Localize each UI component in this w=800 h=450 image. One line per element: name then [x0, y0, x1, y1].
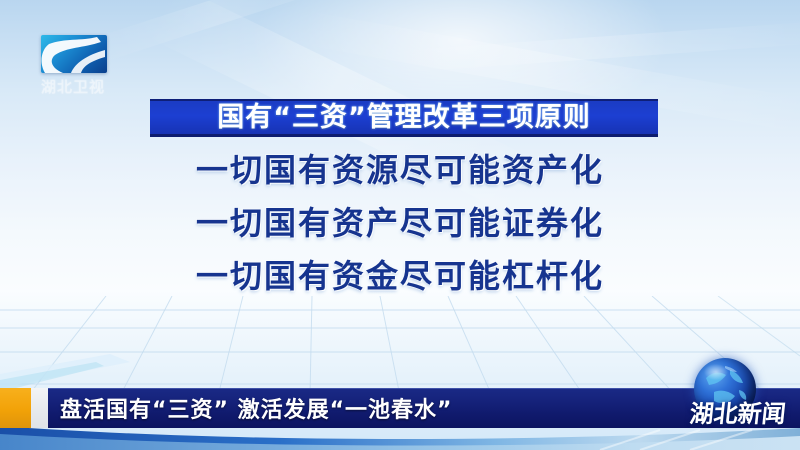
lower-third-accent-bar — [0, 388, 31, 428]
principle-line: 一切国有资产尽可能证券化 — [0, 207, 800, 239]
channel-wordmark: 湖北卫视 — [41, 76, 119, 97]
principle-line: 一切国有资源尽可能资产化 — [0, 154, 800, 186]
program-bug-label: 湖北新闻 — [674, 394, 800, 429]
lower-third-headline: 盘活国有“三资” 激活发展“一池春水” — [60, 388, 453, 428]
principle-line: 一切国有资金尽可能杠杆化 — [0, 260, 800, 292]
title-banner: 国有“三资”管理改革三项原则 — [150, 99, 658, 137]
broadcast-screen: 湖北卫视 国有“三资”管理改革三项原则 一切国有资源尽可能资产化 一切国有资产尽… — [0, 0, 800, 450]
program-bug: 湖北新闻 — [676, 358, 800, 430]
title-banner-text: 国有“三资”管理改革三项原则 — [217, 104, 591, 131]
channel-logo-icon — [41, 35, 107, 73]
globe-highlight — [704, 364, 728, 380]
principles-list: 一切国有资源尽可能资产化 一切国有资产尽可能证券化 一切国有资金尽可能杠杆化 — [0, 146, 800, 292]
lower-third-divider — [31, 388, 48, 428]
